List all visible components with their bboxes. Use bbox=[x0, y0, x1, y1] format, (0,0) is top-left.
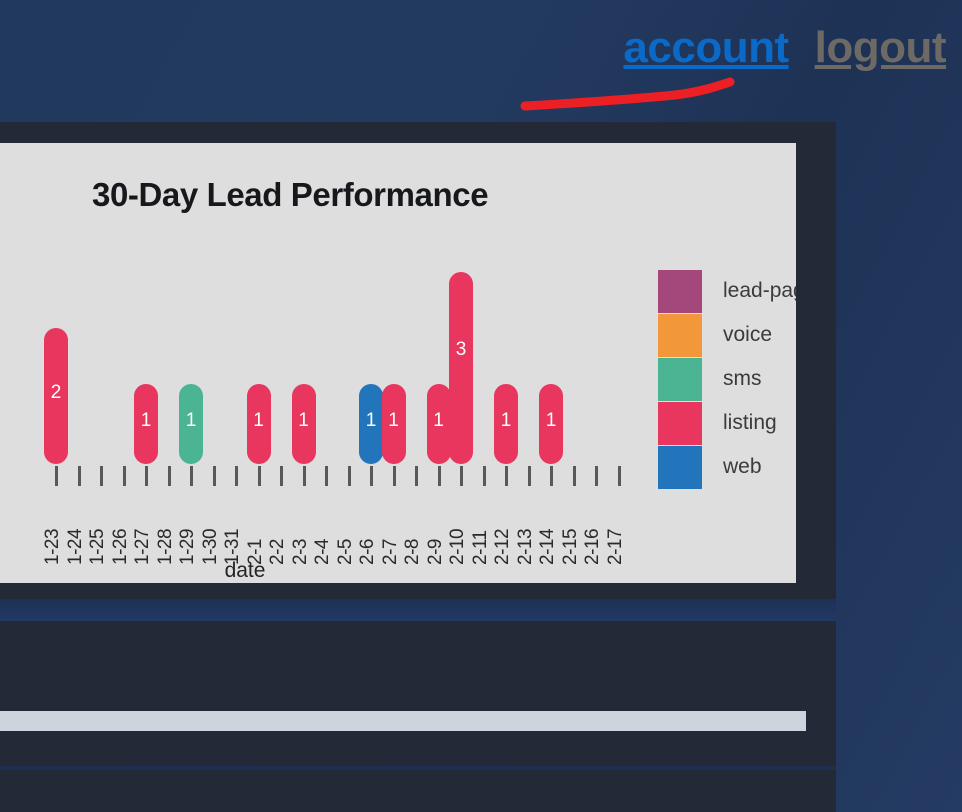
legend-item-web[interactable]: web bbox=[658, 445, 796, 489]
x-axis-tick-label: 2-6 bbox=[357, 539, 379, 565]
legend-swatch-voice bbox=[658, 314, 702, 357]
chart-legend: lead-pagevoicesmslistingweb bbox=[658, 269, 796, 489]
legend-item-listing[interactable]: listing bbox=[658, 401, 796, 445]
x-axis-tick-label: 1-24 bbox=[65, 529, 87, 565]
chart-card-panel: 30-Day Lead Performance 21111111311 1-23… bbox=[0, 122, 836, 599]
legend-item-voice[interactable]: voice bbox=[658, 313, 796, 357]
panel-divider-upper bbox=[0, 599, 836, 621]
x-axis-tick-label: 2-7 bbox=[380, 539, 402, 565]
x-axis-tick-label: 1-25 bbox=[87, 529, 109, 565]
legend-label: listing bbox=[723, 411, 777, 435]
x-axis-tick-label: 2-14 bbox=[537, 529, 559, 565]
panel-progress-strip bbox=[0, 711, 806, 731]
x-axis-tick-label: 1-26 bbox=[110, 529, 132, 565]
x-axis-tick-label: 2-11 bbox=[470, 530, 492, 565]
legend-swatch-sms bbox=[658, 358, 702, 401]
chart-plot-area[interactable]: 30-Day Lead Performance 21111111311 1-23… bbox=[0, 143, 796, 583]
legend-swatch-lead-page bbox=[658, 270, 702, 313]
legend-label: lead-page bbox=[723, 279, 796, 303]
legend-label: sms bbox=[723, 367, 762, 391]
x-axis-tick-label: 2-15 bbox=[560, 529, 582, 565]
x-axis-tick-label: 2-12 bbox=[492, 529, 514, 565]
account-link[interactable]: account bbox=[623, 26, 788, 70]
x-axis-tick-label: 2-10 bbox=[447, 529, 469, 565]
footer-panel bbox=[0, 770, 836, 812]
legend-label: voice bbox=[723, 323, 772, 347]
red-underline-annotation-icon bbox=[505, 76, 765, 118]
legend-label: web bbox=[723, 455, 762, 479]
logout-link[interactable]: logout bbox=[815, 26, 946, 70]
x-axis-tick-label: 2-13 bbox=[515, 529, 537, 565]
legend-swatch-web bbox=[658, 446, 702, 489]
x-axis-tick-label: 2-17 bbox=[605, 529, 627, 565]
x-axis-tick-label: 1-23 bbox=[42, 529, 64, 565]
legend-item-sms[interactable]: sms bbox=[658, 357, 796, 401]
legend-swatch-listing bbox=[658, 402, 702, 445]
nav-links-group: account logout bbox=[623, 26, 946, 70]
x-axis-tick-label: 2-8 bbox=[402, 539, 424, 565]
x-axis-tick-label: 2-16 bbox=[582, 529, 604, 565]
legend-item-lead-page[interactable]: lead-page bbox=[658, 269, 796, 313]
top-navigation-bar: account logout bbox=[0, 0, 962, 118]
x-axis-tick-label: 2-9 bbox=[425, 539, 447, 565]
x-axis-title: date bbox=[150, 559, 340, 583]
secondary-panel bbox=[0, 621, 836, 766]
